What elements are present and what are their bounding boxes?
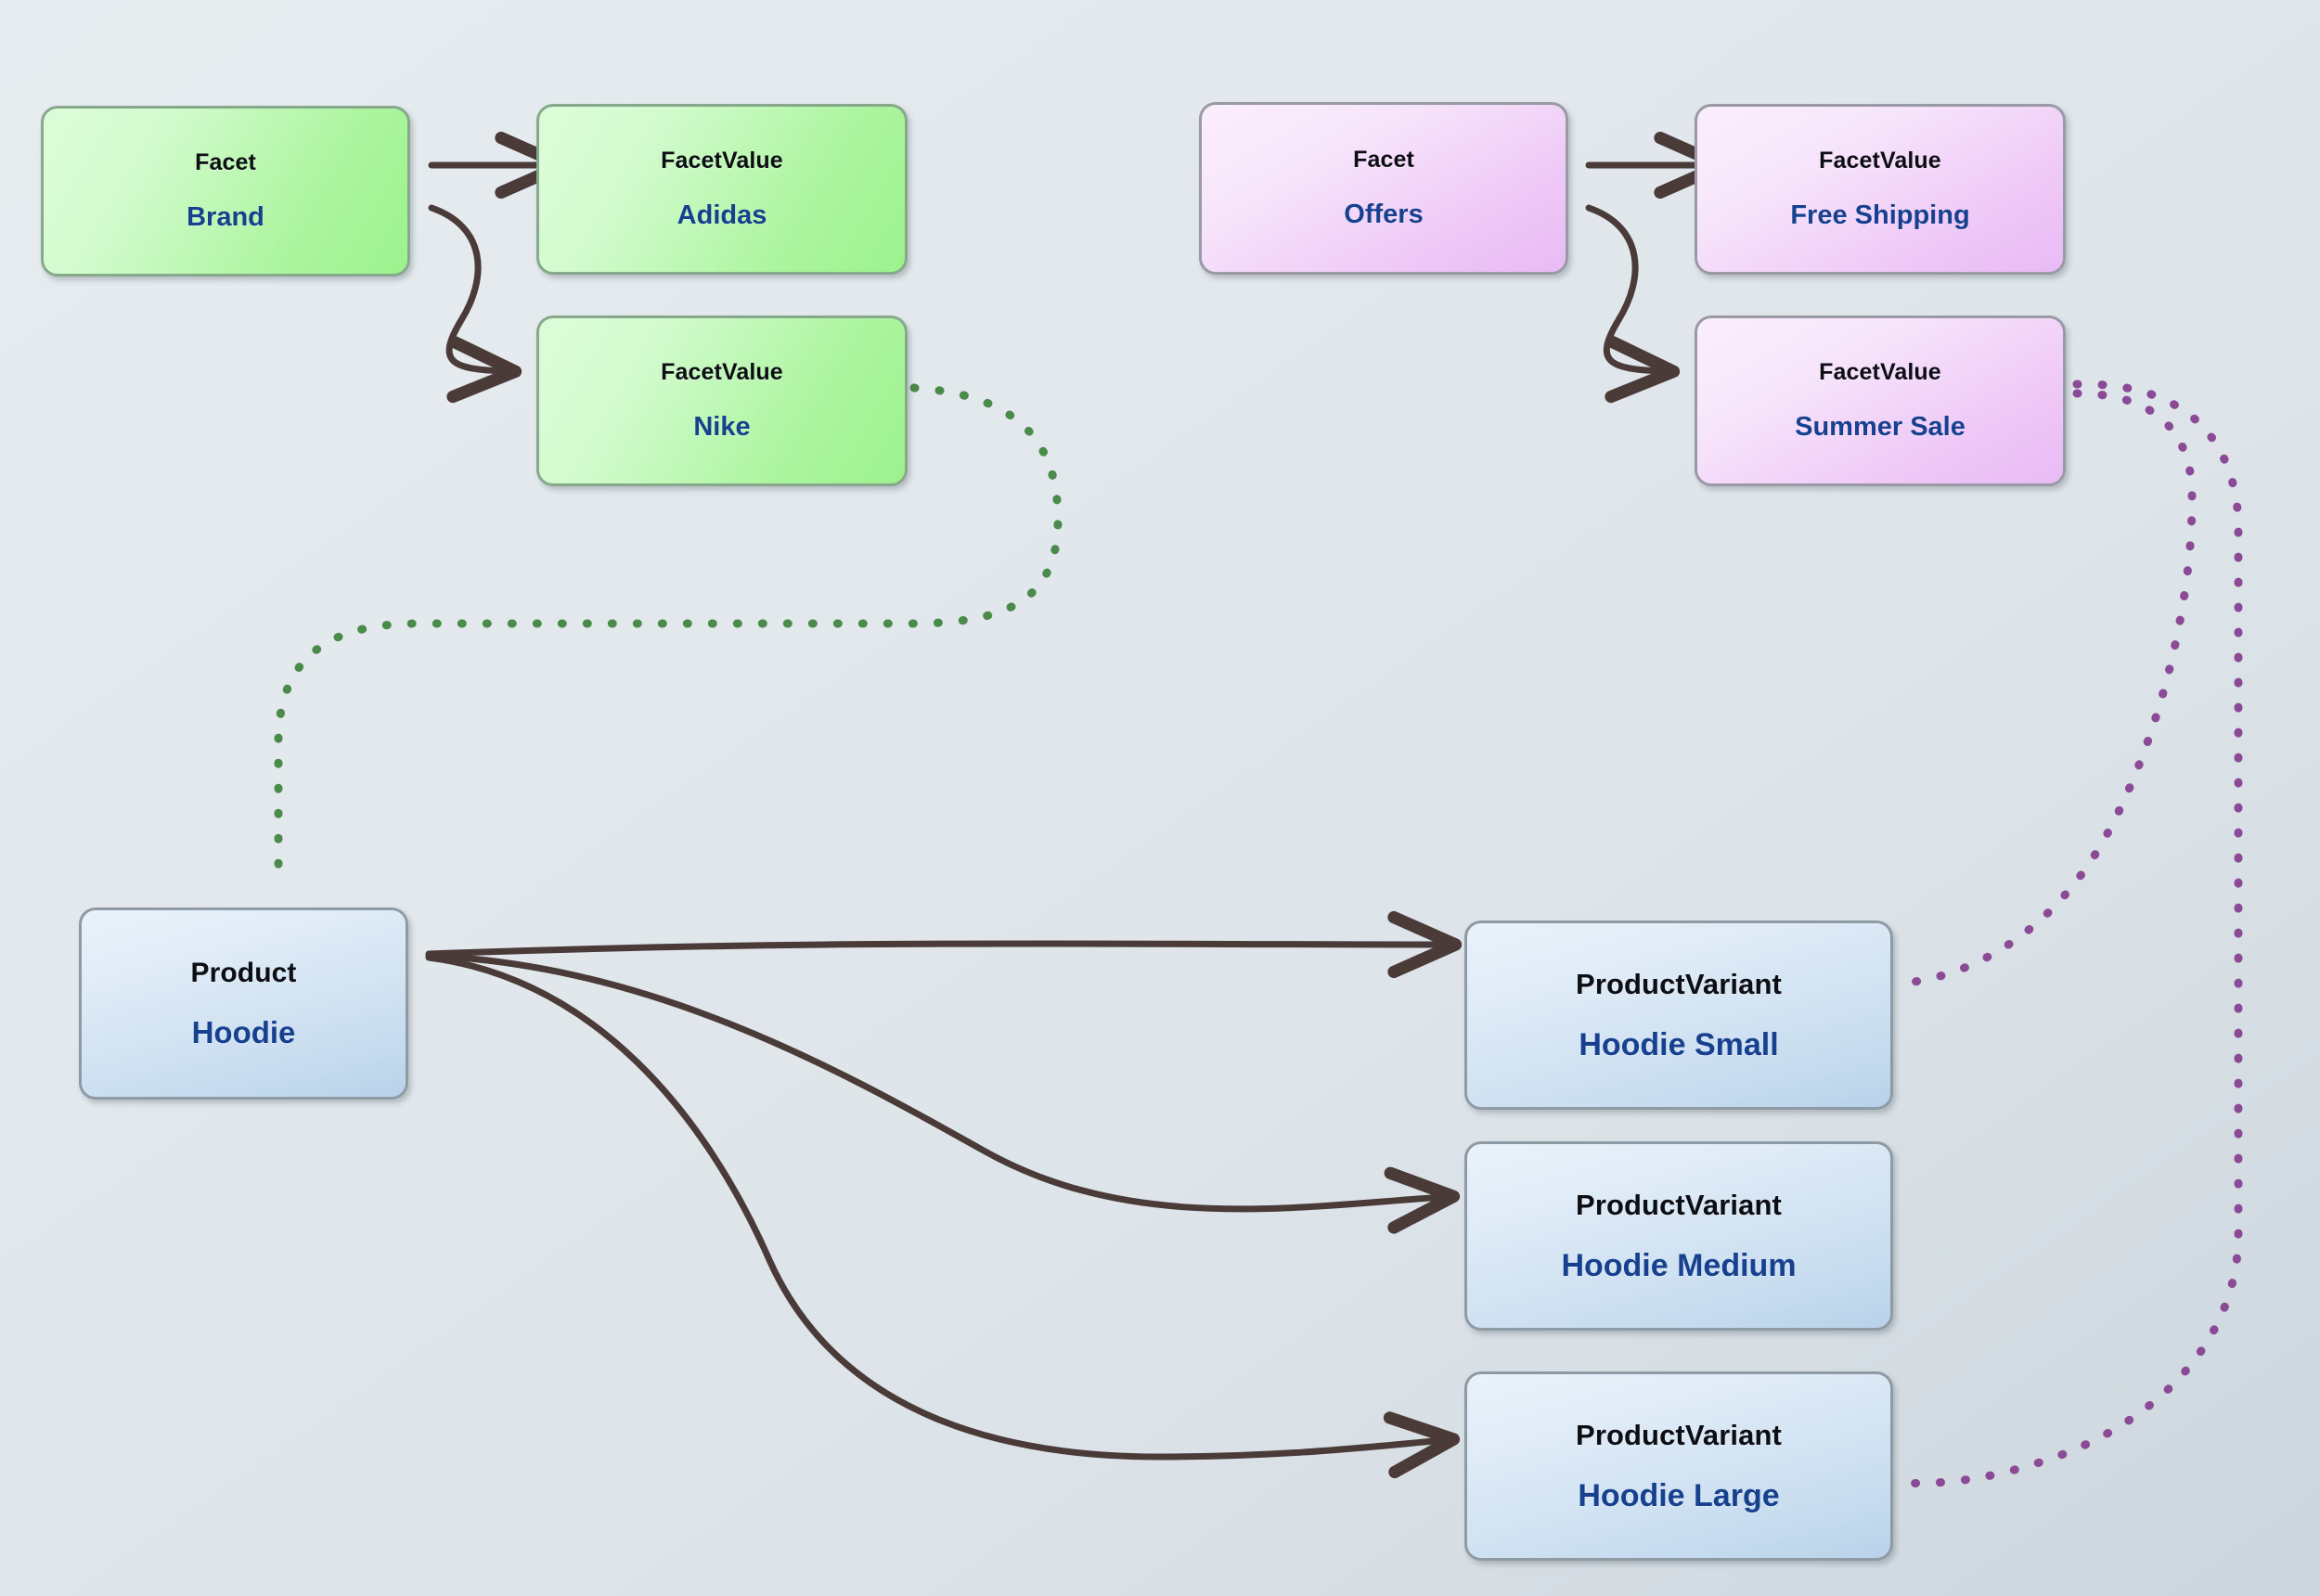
node-value-label: Free Shipping xyxy=(1790,200,1969,231)
node-facetvalue-summer-sale[interactable]: FacetValue Summer Sale xyxy=(1695,315,2066,486)
node-facet-offers[interactable]: Facet Offers xyxy=(1199,102,1568,275)
edge-product-to-large xyxy=(429,958,1444,1457)
node-product-hoodie[interactable]: Product Hoodie xyxy=(79,907,408,1100)
edge-product-to-medium xyxy=(429,956,1444,1209)
node-type-label: FacetValue xyxy=(661,148,783,174)
node-type-label: ProductVariant xyxy=(1576,1189,1782,1222)
diagram-canvas: Facet Brand FacetValue Adidas FacetValue… xyxy=(0,0,2320,1596)
node-facet-brand[interactable]: Facet Brand xyxy=(41,106,410,277)
node-type-label: FacetValue xyxy=(661,359,783,386)
node-variant-hoodie-medium[interactable]: ProductVariant Hoodie Medium xyxy=(1464,1141,1893,1331)
node-value-label: Brand xyxy=(187,202,264,233)
node-facetvalue-nike[interactable]: FacetValue Nike xyxy=(536,315,908,486)
node-type-label: Facet xyxy=(195,149,256,176)
node-type-label: FacetValue xyxy=(1819,148,1941,174)
node-type-label: FacetValue xyxy=(1819,359,1941,386)
edge-product-to-small xyxy=(429,944,1446,954)
node-value-label: Summer Sale xyxy=(1795,412,1966,443)
node-type-label: Product xyxy=(190,958,296,989)
edge-brand-to-nike xyxy=(432,208,506,371)
edge-summer-sale-to-large xyxy=(1899,384,2238,1484)
node-value-label: Nike xyxy=(693,412,750,443)
node-type-label: Facet xyxy=(1353,147,1414,174)
node-variant-hoodie-large[interactable]: ProductVariant Hoodie Large xyxy=(1464,1371,1893,1561)
edge-offers-to-summer-sale xyxy=(1589,208,1664,371)
node-value-label: Hoodie Medium xyxy=(1561,1248,1796,1284)
node-facetvalue-adidas[interactable]: FacetValue Adidas xyxy=(536,104,908,275)
node-facetvalue-free-shipping[interactable]: FacetValue Free Shipping xyxy=(1695,104,2066,275)
node-value-label: Hoodie Small xyxy=(1579,1027,1778,1063)
node-value-label: Hoodie Large xyxy=(1578,1478,1779,1514)
node-type-label: ProductVariant xyxy=(1576,968,1782,1001)
node-value-label: Hoodie xyxy=(192,1015,296,1050)
node-value-label: Adidas xyxy=(677,200,767,231)
node-value-label: Offers xyxy=(1344,199,1423,230)
node-variant-hoodie-small[interactable]: ProductVariant Hoodie Small xyxy=(1464,920,1893,1110)
node-type-label: ProductVariant xyxy=(1576,1419,1782,1452)
